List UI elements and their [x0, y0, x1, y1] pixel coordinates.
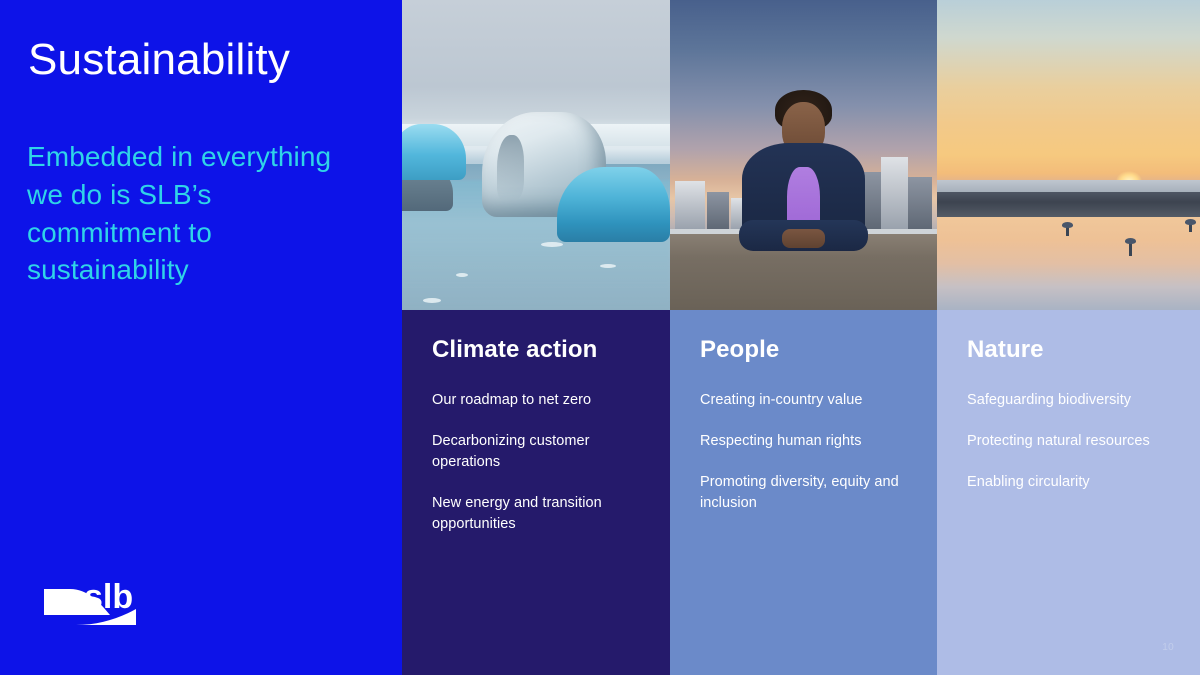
photo-strip	[402, 0, 1200, 310]
pillar-item: Decarbonizing customer operations	[432, 431, 640, 473]
iceberg-glacier-lagoon-photo	[402, 0, 670, 310]
pillar-climate-action: Climate action Our roadmap to net zero D…	[402, 310, 670, 675]
woman-rooftop-city-photo	[670, 0, 937, 310]
pillar-columns: Climate action Our roadmap to net zero D…	[402, 310, 1200, 675]
sunset-tidal-flats-flamingos-photo	[937, 0, 1200, 310]
pillar-nature: Nature Safeguarding biodiversity Protect…	[937, 310, 1200, 675]
slb-logo: slb	[40, 563, 154, 635]
svg-text:slb: slb	[84, 578, 133, 616]
pillar-item: Safeguarding biodiversity	[967, 390, 1170, 411]
pillar-item: Creating in-country value	[700, 390, 907, 411]
pillar-title-people: People	[700, 336, 907, 364]
pillar-item: Respecting human rights	[700, 431, 907, 452]
pillar-people: People Creating in-country value Respect…	[670, 310, 937, 675]
page-subtitle: Embedded in everything we do is SLB’s co…	[27, 138, 357, 289]
pillar-title-climate: Climate action	[432, 336, 640, 364]
sustainability-slide: Sustainability Embedded in everything we…	[0, 0, 1200, 675]
page-title: Sustainability	[28, 36, 290, 84]
pillar-item: New energy and transition opportunities	[432, 493, 640, 535]
left-title-panel: Sustainability Embedded in everything we…	[0, 0, 402, 675]
pillar-item: Enabling circularity	[967, 472, 1170, 493]
pillar-item: Promoting diversity, equity and inclusio…	[700, 472, 907, 514]
pillar-title-nature: Nature	[967, 336, 1170, 364]
pillar-item: Protecting natural resources	[967, 431, 1170, 452]
pillar-item: Our roadmap to net zero	[432, 390, 640, 411]
page-number: 10	[1162, 642, 1174, 653]
